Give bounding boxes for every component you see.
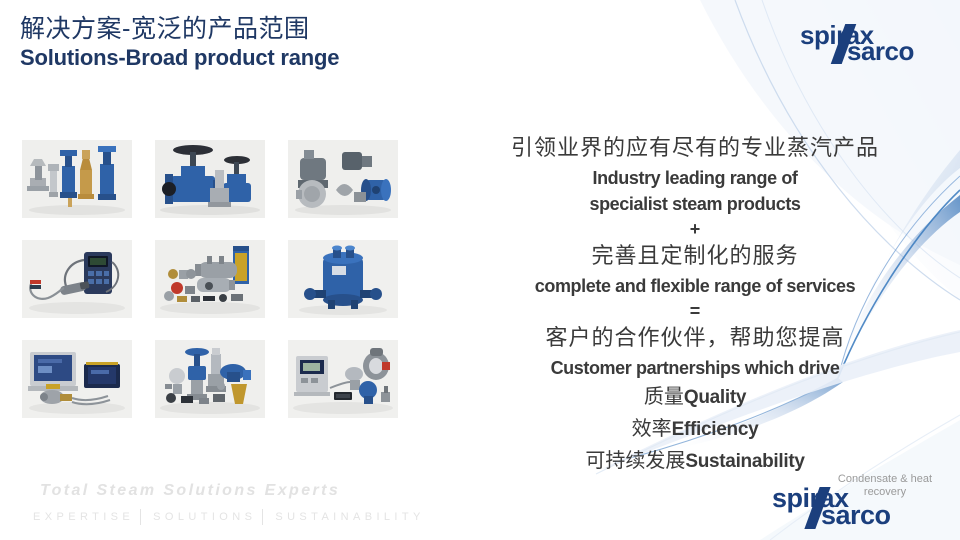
product-thumb-level-control-panels[interactable]: Level control panels (22, 340, 132, 418)
quality-cn: 质量 (644, 384, 684, 408)
message-line-6: complete and flexible range of services (455, 273, 935, 299)
message-line-8: 客户的合作伙伴，帮助您提高 (455, 323, 935, 355)
message-line-3: specialist steam products (455, 191, 935, 217)
message-line-2: Industry leading range of (455, 165, 935, 191)
sustainability-cn: 可持续发展 (585, 448, 685, 472)
footer-divider-icon (262, 509, 263, 525)
product-thumb-flow-metering-systems[interactable]: Flow metering systems (288, 340, 398, 418)
product-image-grid: Safety relief valves Flanged control val… (22, 140, 422, 440)
logo-word-sarco: sarco (847, 38, 914, 64)
page-title-english: Solutions-Broad product range (20, 44, 580, 71)
page-title-chinese: 解决方案-宽泛的产品范围 (20, 14, 580, 44)
footer-pillar-solutions: SOLUTIONS (153, 511, 256, 523)
message-line-9: Customer partnerships which drive (455, 355, 935, 381)
value-proposition-text: 引领业界的应有尽有的专业蒸汽产品 Industry leading range … (455, 133, 935, 477)
product-thumb-flanged-control-valves[interactable]: Flanged control valves (155, 140, 265, 218)
product-row: Safety relief valves Flanged control val… (22, 140, 422, 240)
footer-divider-icon (140, 509, 141, 525)
footer-pillar-expertise: EXPERTISE (33, 511, 134, 523)
message-operator-plus: + (455, 217, 935, 241)
product-thumb-portable-test-meter[interactable]: Portable test meter (22, 240, 132, 318)
product-thumb-condensate-pump[interactable]: Condensate pump (288, 240, 398, 318)
quality-en: Quality (684, 387, 746, 408)
footer-tagline: Total Steam Solutions Experts (40, 482, 340, 500)
message-line-efficiency: 效率Efficiency (455, 413, 935, 445)
product-row: Portable test meter (22, 240, 422, 340)
product-thumb-steam-traps[interactable]: Steam traps (288, 140, 398, 218)
page-title: 解决方案-宽泛的产品范围 Solutions-Broad product ran… (20, 14, 580, 71)
logo-word-sarco: sarco (821, 502, 891, 529)
footer-pillar-sustainability: SUSTAINABILITY (275, 511, 424, 523)
message-operator-equals: = (455, 299, 935, 323)
message-line-quality: 质量Quality (455, 381, 935, 413)
sustainability-en: Sustainability (685, 451, 804, 472)
product-thumb-heat-exchanger-packages[interactable]: Heat exchanger packages (155, 240, 265, 318)
message-line-5: 完善且定制化的服务 (455, 241, 935, 273)
spirax-sarco-logo: spirax sarco (800, 22, 945, 64)
product-row: Level control panels (22, 340, 422, 440)
footer-pillars: EXPERTISE SOLUTIONS SUSTAINABILITY (33, 509, 425, 525)
product-thumb-control-valve-assortment[interactable]: Control valve assortment (155, 340, 265, 418)
efficiency-en: Efficiency (672, 419, 759, 440)
efficiency-cn: 效率 (632, 416, 672, 440)
slide-canvas: 解决方案-宽泛的产品范围 Solutions-Broad product ran… (0, 0, 960, 540)
message-line-1: 引领业界的应有尽有的专业蒸汽产品 (455, 133, 935, 165)
spirax-sarco-logo-footer: spirax sarco (772, 485, 922, 529)
product-thumb-safety-relief-valves[interactable]: Safety relief valves (22, 140, 132, 218)
